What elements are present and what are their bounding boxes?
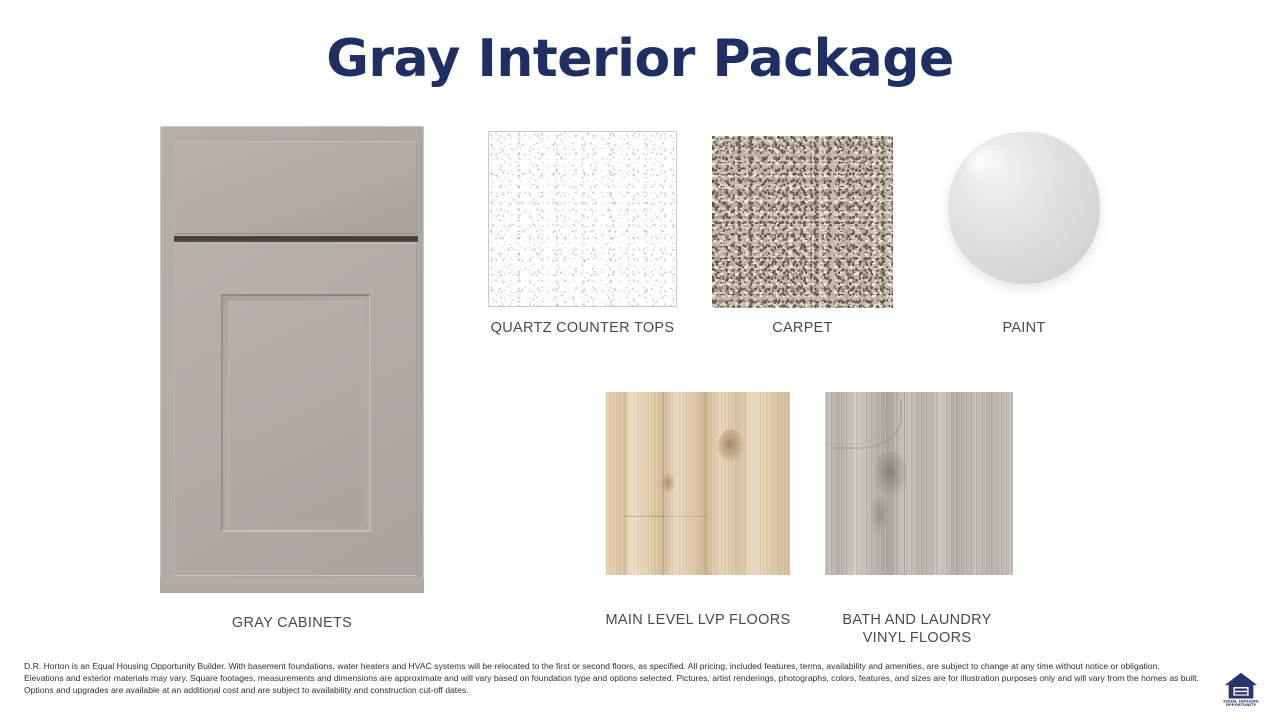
cabinet-panel-face — [228, 301, 364, 525]
cabinet-drawer-front — [174, 141, 417, 234]
equal-housing-opportunity-logo: EQUAL HOUSING OPPORTUNITY — [1222, 669, 1260, 707]
wood-knot-icon — [718, 429, 744, 463]
swatch-label-bath-and-laundry-vinyl-floors: BATH AND LAUNDRY VINYL FLOORS — [817, 611, 1017, 647]
swatch-label-quartz-counter-tops: QUARTZ COUNTER TOPS — [488, 319, 677, 337]
paint-gloss-highlight — [960, 138, 1015, 186]
swatch-quartz-counter-tops — [488, 131, 677, 307]
cabinet-recessed-panel — [221, 294, 371, 532]
swatch-carpet — [712, 136, 893, 308]
page-title: Gray Interior Package — [0, 28, 1280, 90]
swatch-label-main-level-lvp-floors: MAIN LEVEL LVP FLOORS — [598, 611, 798, 629]
cabinet-shadow-gap — [174, 236, 418, 242]
cabinet-base-rail — [160, 578, 424, 593]
svg-text:OPPORTUNITY: OPPORTUNITY — [1226, 702, 1257, 707]
paint-blob — [948, 132, 1100, 284]
cabinet-door-frame — [174, 243, 417, 576]
swatch-gray-cabinets — [160, 126, 424, 593]
wood-knot-icon — [661, 473, 675, 493]
swatch-label-paint: PAINT — [948, 319, 1100, 337]
wood-knot-icon — [874, 451, 908, 497]
wood-knot-icon — [870, 494, 888, 534]
swatch-main-level-lvp-floors — [606, 392, 790, 575]
plank-seam — [624, 516, 663, 517]
swatch-paint — [948, 132, 1100, 284]
disclaimer-text: D.R. Horton is an Equal Housing Opportun… — [24, 660, 1199, 697]
swatch-bath-and-laundry-vinyl-floors — [825, 392, 1013, 575]
swatch-label-gray-cabinets: GRAY CABINETS — [160, 614, 424, 632]
swatch-label-carpet: CARPET — [712, 319, 893, 337]
plank-seam — [663, 516, 705, 517]
